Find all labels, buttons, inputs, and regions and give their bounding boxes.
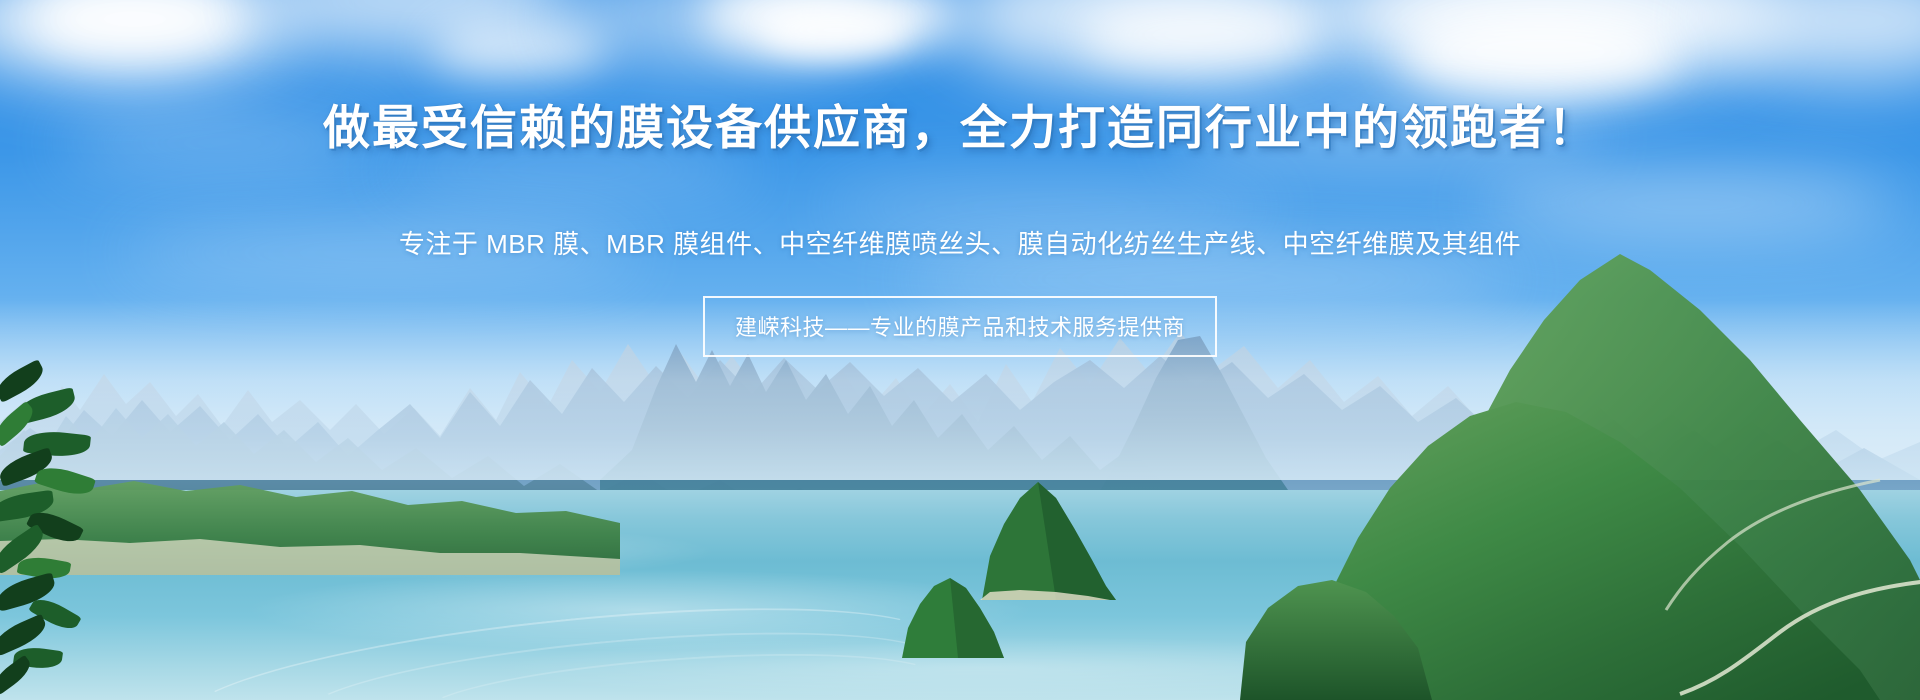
hero-banner: 做最受信赖的膜设备供应商，全力打造同行业中的领跑者！ 专注于 MBR 膜、MBR… xyxy=(0,0,1920,700)
tagline-box: 建嵘科技——专业的膜产品和技术服务提供商 xyxy=(703,296,1217,357)
hero-subtitle: 专注于 MBR 膜、MBR 膜组件、中空纤维膜喷丝头、膜自动化纺丝生产线、中空纤… xyxy=(0,224,1920,261)
tagline-box-wrapper: 建嵘科技——专业的膜产品和技术服务提供商 xyxy=(0,296,1920,357)
hero-headline: 做最受信赖的膜设备供应商，全力打造同行业中的领跑者！ xyxy=(0,103,1920,152)
hero-text-content: 做最受信赖的膜设备供应商，全力打造同行业中的领跑者！ 专注于 MBR 膜、MBR… xyxy=(0,0,1920,700)
